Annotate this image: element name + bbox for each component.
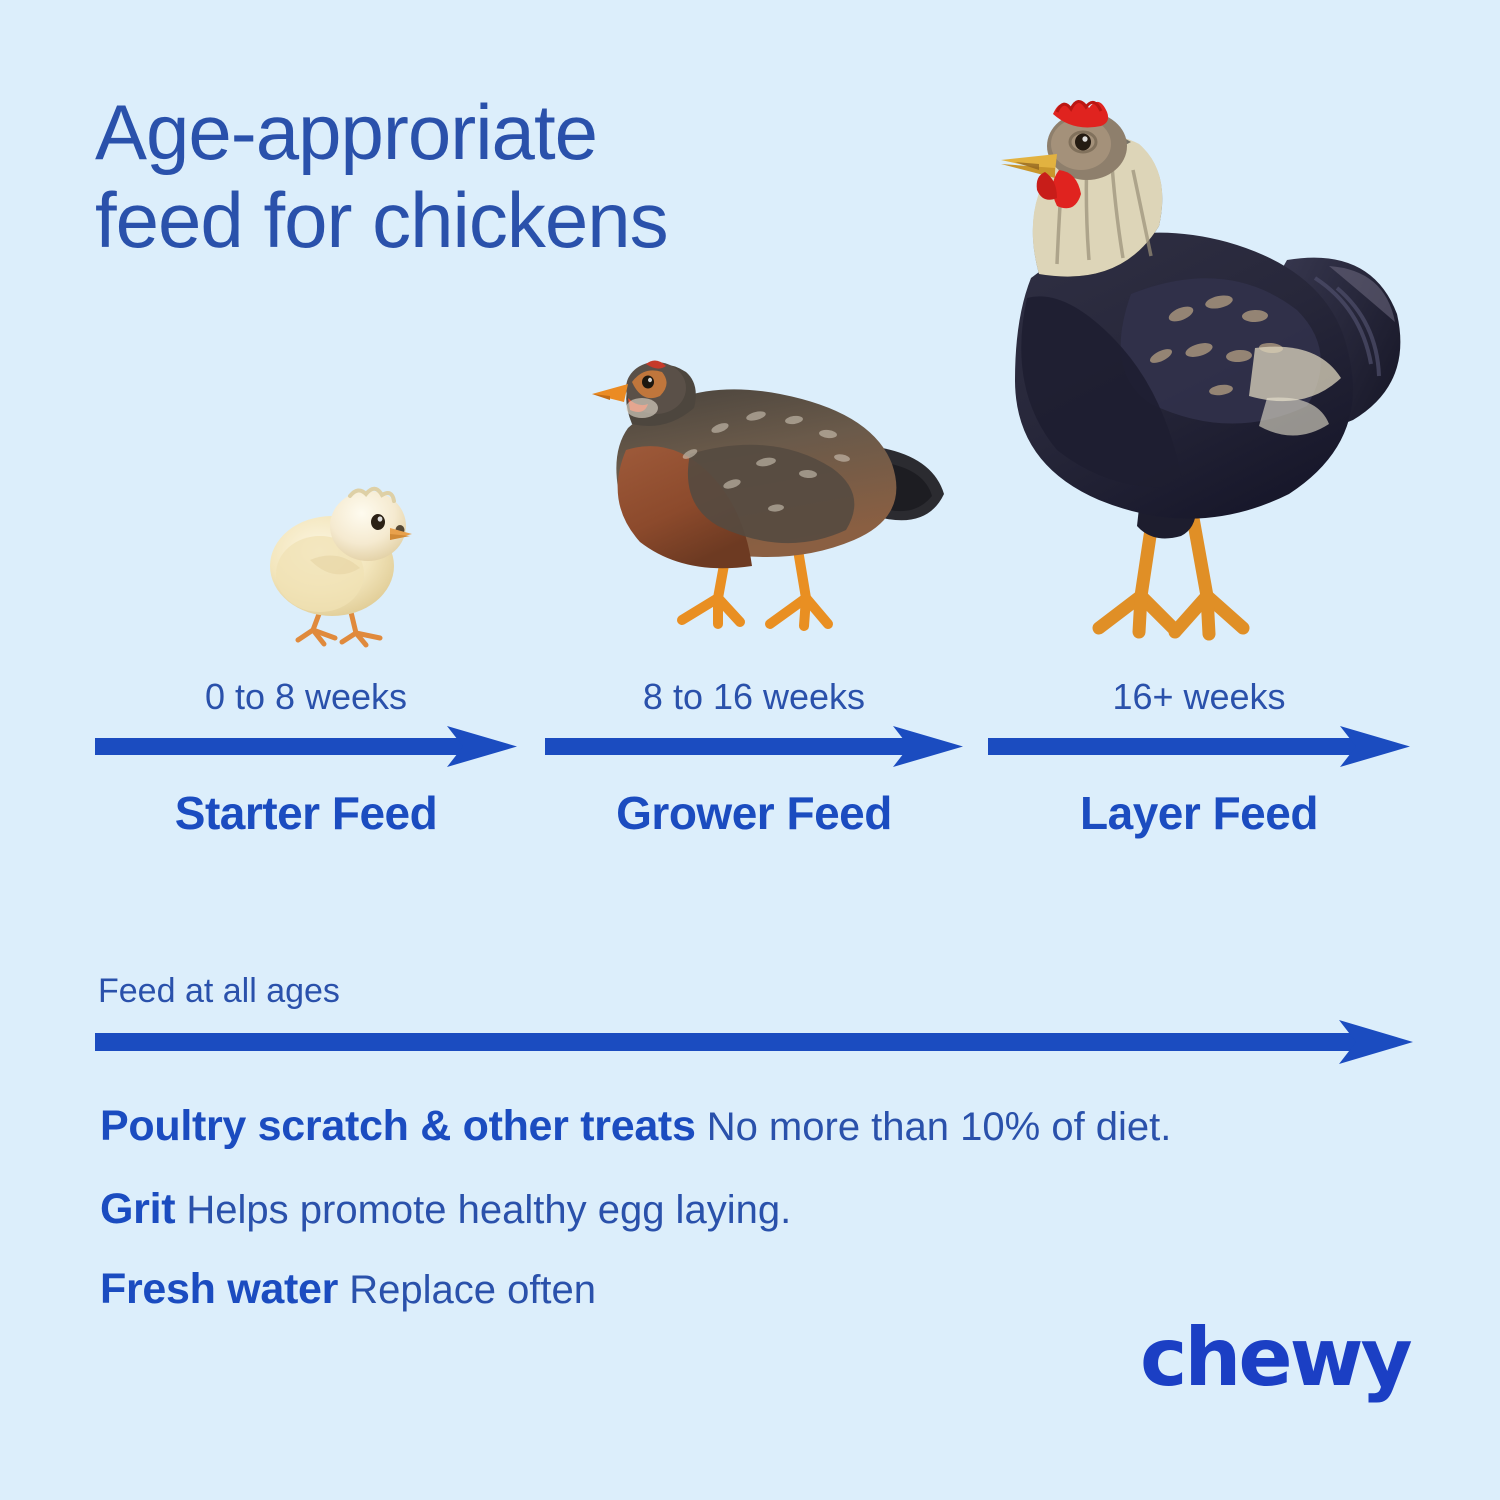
all-ages-item-treats-detail: No more than 10% of diet.: [707, 1105, 1172, 1149]
stage-name-starter: Starter Feed: [95, 786, 517, 840]
chewy-logo-text: chewy: [1140, 1318, 1410, 1398]
stage-weeks-grower: 8 to 16 weeks: [545, 676, 963, 718]
stage-arrow-layer: [988, 724, 1410, 770]
stage-weeks-layer: 16+ weeks: [988, 676, 1410, 718]
page-title: Age-approriate feed for chickens: [95, 88, 915, 264]
all-ages-label: Feed at all ages: [98, 972, 340, 1011]
chewy-logo[interactable]: chewy: [1140, 1318, 1410, 1398]
all-ages-item-treats-title: Poultry scratch & other treats: [100, 1102, 696, 1150]
all-ages-item-grit-detail: Helps promote healthy egg laying.: [186, 1188, 791, 1232]
stage-arrow-starter: [95, 724, 517, 770]
all-ages-arrow: [95, 1018, 1413, 1066]
infographic-canvas: Age-approriate feed for chickens: [0, 0, 1500, 1500]
all-ages-item-water: Fresh water Replace often: [100, 1265, 596, 1314]
all-ages-item-treats: Poultry scratch & other treats No more t…: [100, 1102, 1171, 1151]
all-ages-item-water-detail: Replace often: [349, 1268, 596, 1312]
stage-arrow-grower: [545, 724, 963, 770]
stage-name-grower: Grower Feed: [545, 786, 963, 840]
stage-weeks-starter: 0 to 8 weeks: [95, 676, 517, 718]
all-ages-item-grit-title: Grit: [100, 1185, 175, 1233]
adult-hen-illustration: [935, 98, 1405, 658]
stage-name-layer: Layer Feed: [988, 786, 1410, 840]
pullet-chicken-illustration: [570, 358, 970, 653]
baby-chick-illustration: [250, 478, 430, 656]
all-ages-item-grit: Grit Helps promote healthy egg laying.: [100, 1185, 791, 1234]
all-ages-item-water-title: Fresh water: [100, 1265, 338, 1313]
